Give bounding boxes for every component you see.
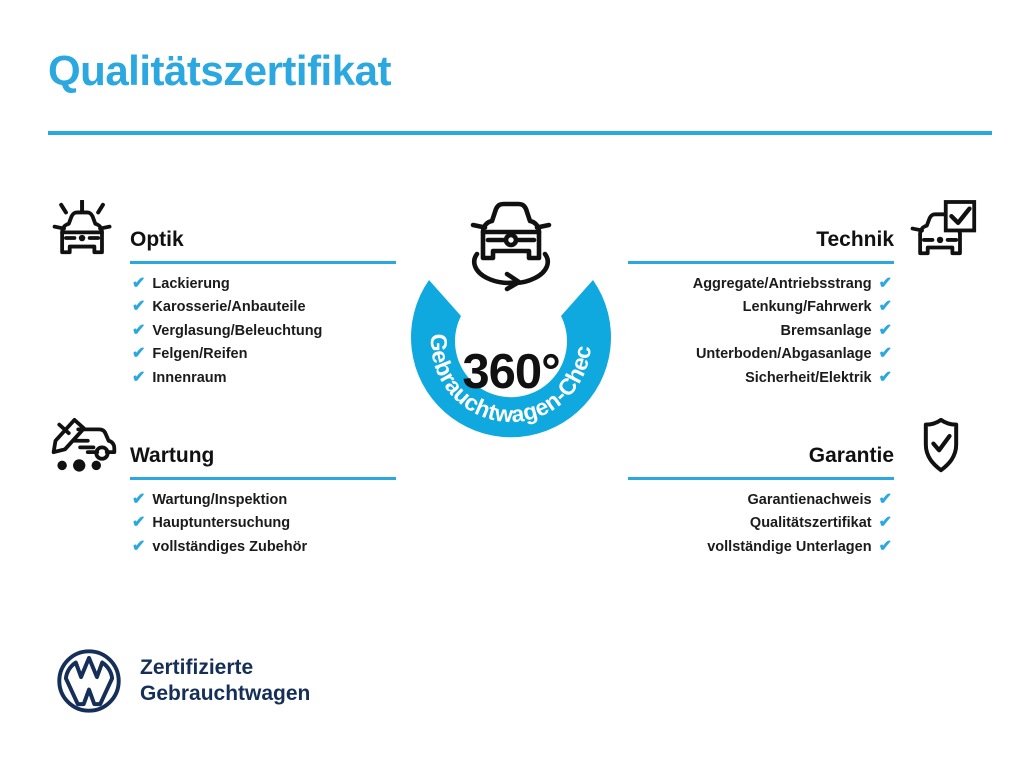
list-item: Lenkung/Fahrwerk✔ [628,296,980,320]
check-icon: ✔ [132,276,145,292]
section-title: Technik [816,228,894,252]
check-icon: ✔ [132,515,145,531]
list-item-label: Unterboden/Abgasanlage [696,346,872,362]
section-technik: Technik Aggregate/Antriebsstrang✔ Lenkun… [628,200,980,390]
checklist-wartung: ✔Wartung/Inspektion ✔Hauptuntersuchung ✔… [44,488,396,559]
section-header: Wartung [44,416,396,488]
section-underline [628,261,894,264]
section-header: Optik [44,200,396,272]
section-optik: Optik ✔Lackierung ✔Karosserie/Anbauteile… [44,200,396,390]
list-item-label: Lenkung/Fahrwerk [743,299,872,315]
section-title: Garantie [809,444,894,468]
car-front-checkbox-icon [902,200,980,262]
car-front-rotate-icon [453,196,569,292]
title-divider [48,131,992,135]
list-item: ✔Lackierung [44,272,396,296]
list-item-label: Bremsanlage [781,323,872,339]
volkswagen-footer-logo: Zertifizierte Gebrauchtwagen [56,648,310,714]
shield-check-icon [902,416,980,478]
check-icon: ✔ [879,370,892,386]
check-icon: ✔ [879,276,892,292]
list-item-label: Aggregate/Antriebsstrang [693,276,872,292]
list-item: ✔vollständiges Zubehör [44,535,396,559]
gebrauchtwagen-check-badge: Gebrauchtwagen-Check 360° [375,196,647,486]
list-item-label: Garantienachweis [747,492,871,508]
pencil-car-service-icon [44,416,122,478]
list-item-label: Innenraum [152,370,226,386]
list-item: ✔Hauptuntersuchung [44,512,396,536]
footer-line-2: Gebrauchtwagen [140,681,310,707]
badge-center-label: 360° [375,344,647,400]
checklist-optik: ✔Lackierung ✔Karosserie/Anbauteile ✔Verg… [44,272,396,390]
list-item-label: Wartung/Inspektion [152,492,287,508]
list-item-label: vollständiges Zubehör [152,539,307,555]
list-item: Aggregate/Antriebsstrang✔ [628,272,980,296]
check-icon: ✔ [132,492,145,508]
list-item-label: Sicherheit/Elektrik [745,370,872,386]
list-item: Sicherheit/Elektrik✔ [628,366,980,390]
list-item-label: Qualitätszertifikat [750,515,872,531]
check-icon: ✔ [879,346,892,362]
check-icon: ✔ [132,346,145,362]
list-item-label: Karosserie/Anbauteile [152,299,305,315]
list-item: Bremsanlage✔ [628,319,980,343]
list-item: ✔Karosserie/Anbauteile [44,296,396,320]
list-item-label: Hauptuntersuchung [152,515,290,531]
section-wartung: Wartung ✔Wartung/Inspektion ✔Hauptunters… [44,416,396,559]
section-header: Garantie [628,416,980,488]
list-item-label: vollständige Unterlagen [707,539,871,555]
list-item: ✔Verglasung/Beleuchtung [44,319,396,343]
section-underline [130,261,396,264]
list-item: ✔Innenraum [44,366,396,390]
section-underline [130,477,396,480]
list-item: Unterboden/Abgasanlage✔ [628,343,980,367]
section-garantie: Garantie Garantienachweis✔ Qualitätszert… [628,416,980,559]
list-item: vollständige Unterlagen✔ [628,535,980,559]
check-icon: ✔ [879,492,892,508]
section-title: Optik [130,228,184,252]
footer-wordmark: Zertifizierte Gebrauchtwagen [140,655,310,706]
check-icon: ✔ [879,323,892,339]
volkswagen-logo-icon [56,648,122,714]
section-header: Technik [628,200,980,272]
check-icon: ✔ [879,515,892,531]
list-item-label: Verglasung/Beleuchtung [152,323,322,339]
car-front-shine-icon [44,200,122,262]
list-item-label: Felgen/Reifen [152,346,247,362]
list-item: ✔Felgen/Reifen [44,343,396,367]
section-underline [628,477,894,480]
checklist-garantie: Garantienachweis✔ Qualitätszertifikat✔ v… [628,488,980,559]
check-icon: ✔ [879,299,892,315]
list-item-label: Lackierung [152,276,229,292]
checklist-technik: Aggregate/Antriebsstrang✔ Lenkung/Fahrwe… [628,272,980,390]
list-item: ✔Wartung/Inspektion [44,488,396,512]
page-title: Qualitätszertifikat [48,50,391,92]
check-icon: ✔ [132,323,145,339]
check-icon: ✔ [132,539,145,555]
footer-line-1: Zertifizierte [140,655,310,681]
list-item: Qualitätszertifikat✔ [628,512,980,536]
section-title: Wartung [130,444,214,468]
list-item: Garantienachweis✔ [628,488,980,512]
check-icon: ✔ [132,370,145,386]
check-icon: ✔ [132,299,145,315]
check-icon: ✔ [879,539,892,555]
